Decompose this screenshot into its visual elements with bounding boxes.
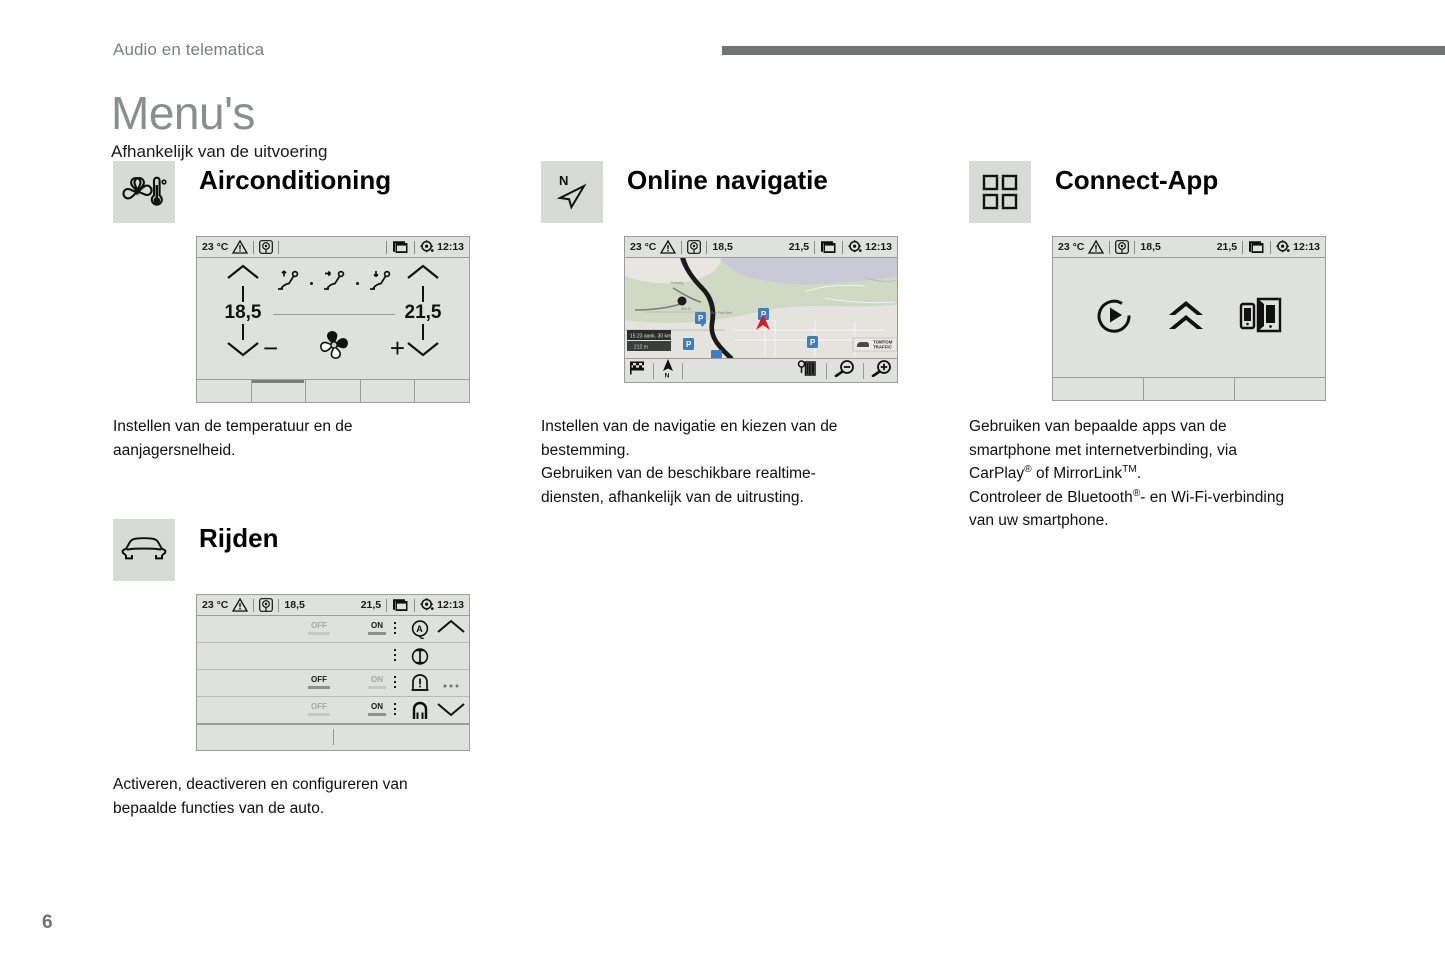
connect-app-grid [1053,258,1325,377]
status-divider-3 [386,241,387,254]
vent-face-icon[interactable] [321,270,347,297]
airconditioning-screen[interactable]: 23 °C 12:13 18,5 [196,236,470,403]
fan-increase-button[interactable]: + [390,339,405,357]
fan-decrease-button[interactable]: − [263,339,278,357]
row-menu-icon[interactable] [394,622,397,637]
temp-right-value: 21,5 [395,303,451,323]
toolbar-divider-4 [863,363,864,379]
header-rule [722,46,1445,55]
tab-4[interactable] [361,380,415,402]
description-line: Activeren, deactiveren en configureren v… [113,773,513,797]
fan-speed-control[interactable]: − + [263,330,405,365]
chevron-up-icon [436,618,466,634]
row-menu-icon[interactable] [394,676,397,691]
svg-text:N: N [665,373,670,379]
svg-text:Snelweg: Snelweg [671,281,683,285]
status-temp-right: 21,5 [789,241,809,253]
tab-3[interactable] [1235,378,1325,400]
status-bar: 23 °C 12:13 [197,237,469,258]
registered-mark-2: ® [1133,487,1141,498]
play-circle-icon[interactable] [1095,296,1133,339]
separator-dot-2 [356,282,359,285]
zoom-in-icon[interactable] [871,359,893,382]
status-divider-2 [1134,241,1135,254]
running-head: Audio en telematica [113,40,264,60]
description-line: van uw smartphone. [969,509,1369,533]
section-airconditioning: Airconditioning 23 °C 12:13 [113,161,513,223]
map-layers-icon[interactable] [797,359,819,382]
lane-departure-icon [409,646,433,667]
warning-triangle-icon [660,240,676,254]
toggle-on-label[interactable]: ON [371,621,383,634]
north-compass-icon[interactable]: N [661,358,675,383]
status-divider [253,599,254,612]
screen-tab-bar[interactable] [1053,377,1325,400]
registered-mark: ® [1024,464,1032,475]
status-outside-temp: 23 °C [202,599,228,611]
svg-text:P: P [810,338,816,347]
status-divider-3 [1242,241,1243,254]
status-divider-2 [278,241,279,254]
toolbar-divider-2 [682,363,683,379]
active-tab-indicator [252,380,304,383]
description-line: smartphone met internetverbinding, via [969,439,1369,463]
mirrorlink-icon[interactable] [1239,296,1283,339]
toggle-on-label[interactable]: ON [371,702,383,715]
four-squares-grid-icon [969,161,1031,223]
divider-rule [273,314,395,315]
warning-triangle-icon [232,240,248,254]
svg-text:Rue Pont Neuf: Rue Pont Neuf [711,311,732,315]
toggle-off-label[interactable]: OFF [311,621,327,634]
status-clock: 12:13 [865,241,892,253]
section-connect-app: Connect-App 23 °C 18,5 21,5 12:13 [969,161,1369,223]
warning-triangle-icon [1088,240,1104,254]
section-header: Connect-App [969,161,1369,223]
status-temp-left: 18,5 [1140,241,1160,253]
description-line: bepaalde functies van de auto. [113,797,513,821]
chevron-down-icon [226,341,260,357]
fan-thermometer-icon [113,161,175,223]
status-divider-2 [706,241,707,254]
drive-row[interactable]: OFF ON A [197,616,469,643]
section-rijden: Rijden 23 °C 18,5 21,5 12:13 [113,519,513,581]
windows-icon [392,240,409,254]
tab-2[interactable] [1144,378,1234,400]
car-front-icon [113,519,175,581]
status-clock: 12:13 [437,241,464,253]
page-number: 6 [42,912,53,934]
temp-left-value: 18,5 [215,303,271,323]
section-online-navigatie: N Online navigatie 23 °C 18,5 21,5 [541,161,941,223]
headrest-icon [409,700,433,721]
status-divider-2 [278,599,279,612]
status-bar: 23 °C 18,5 21,5 12:13 [197,595,469,616]
description-line: Gebruiken van bepaalde apps van de [969,415,1369,439]
ellipsis-icon [440,683,462,689]
connect-app-screen[interactable]: 23 °C 18,5 21,5 12:13 [1052,236,1326,401]
svg-text:N: N [559,173,568,188]
toggle-off-on[interactable]: OFF ON [311,621,383,634]
tab-1[interactable] [1053,378,1143,400]
fan-icon [318,330,350,365]
windows-icon [820,240,837,254]
status-outside-temp: 23 °C [202,241,228,253]
status-divider [681,241,682,254]
tick-lower [242,324,244,340]
section-description: Gebruiken van bepaalde apps van de smart… [969,415,1369,533]
windows-icon [1248,240,1265,254]
section-description: Instellen van de temperatuur en de aanja… [113,415,513,462]
svg-text:15:23 aank. 30 km: 15:23 aank. 30 km [630,334,671,340]
tick-upper [242,286,244,302]
status-outside-temp: 23 °C [1058,241,1084,253]
toggle-off-label[interactable]: OFF [311,702,327,715]
description-line: Gebruiken van de beschikbare realtime- [541,462,941,486]
section-title: Online navigatie [627,165,828,196]
tab-1[interactable] [197,380,251,402]
description-line: Instellen van de navigatie en kiezen van… [541,415,941,439]
list-scroll-up-button[interactable] [435,618,467,639]
status-divider-4 [1270,241,1271,254]
list-more-indicator [435,676,467,694]
svg-text:A: A [416,624,423,634]
status-divider-4 [842,241,843,254]
checkered-flag-icon[interactable] [629,360,646,381]
tab-5[interactable] [415,380,469,402]
status-bar: 23 °C 18,5 21,5 12:13 [625,237,897,258]
target-icon [1115,240,1129,254]
gear-icon [1276,240,1290,254]
navigation-screen[interactable]: 23 °C 18,5 21,5 12:13 [624,236,898,383]
target-icon [259,598,273,612]
status-divider [1109,241,1110,254]
target-icon [687,240,701,254]
status-temp-right: 21,5 [361,599,381,611]
status-clock: 12:13 [1293,241,1320,253]
section-title: Airconditioning [199,165,391,196]
drive-row[interactable] [197,643,469,670]
toolbar-divider [653,363,654,379]
status-temp-right: 21,5 [1217,241,1237,253]
tab-divider [333,729,334,745]
airco-controls: 18,5 21,5 [197,258,469,379]
tab-3[interactable] [306,380,360,402]
status-temp-left: 18,5 [712,241,732,253]
description-line: bestemming. [541,439,941,463]
page-subtitle: Afhankelijk van de uitvoering [111,143,327,162]
svg-text:212 m: 212 m [634,345,648,351]
svg-text:P: P [698,314,704,323]
toggle-off-label[interactable]: OFF [311,675,327,688]
section-title: Connect-App [1055,165,1218,196]
gear-icon [420,598,434,612]
section-header: Airconditioning [113,161,513,223]
status-clock: 12:13 [437,599,464,611]
map-view[interactable]: Snelweg Afrit 12 Rue Pont Neuf P P [625,258,897,358]
gear-icon [848,240,862,254]
row-menu-icon[interactable] [394,703,397,718]
separator-dot [310,282,313,285]
status-outside-temp: 23 °C [630,241,656,253]
tick-lower [422,324,424,340]
navigation-toolbar[interactable]: N [625,358,897,382]
toggle-off-on[interactable]: OFF ON [311,702,383,715]
drive-row[interactable]: OFF ON [197,670,469,697]
list-scroll-down-button[interactable] [435,701,467,722]
airflow-distribution-row[interactable] [275,270,393,297]
stop-start-icon: A [409,619,433,640]
chevron-up-icon [226,264,260,280]
gear-icon [420,240,434,254]
status-divider-3 [386,599,387,612]
page-title: Menu's [111,90,327,136]
toggle-off-on[interactable]: OFF ON [311,675,383,688]
toggle-on-label[interactable]: ON [371,675,383,688]
status-divider-4 [414,241,415,254]
warning-triangle-icon [232,598,248,612]
zoom-out-icon[interactable] [834,359,856,382]
section-title: Rijden [199,523,278,554]
drive-settings-list: OFF ON A OFF [197,616,469,724]
description-line: CarPlay® of MirrorLinkTM. [969,462,1369,486]
rijden-screen[interactable]: 23 °C 18,5 21,5 12:13 [196,594,470,751]
svg-text:P: P [686,340,692,349]
tick-upper [422,286,424,302]
description-line: diensten, afhankelijk van de uitrusting. [541,486,941,510]
description-line: Controleer de Bluetooth®- en Wi-Fi-verbi… [969,486,1369,510]
tab-2[interactable] [252,380,306,402]
section-header: Rijden [113,519,513,581]
section-header: N Online navigatie [541,161,941,223]
svg-text:TRAFFIC: TRAFFIC [873,345,893,350]
compass-north-arrow-icon: N [541,161,603,223]
chevron-down-icon [406,341,440,357]
windows-icon [392,598,409,612]
status-divider-3 [814,241,815,254]
title-block: Menu's Afhankelijk van de uitvoering [111,90,327,162]
target-icon [259,240,273,254]
screen-tab-bar[interactable] [197,379,469,402]
screen-tab-bar[interactable] [197,724,469,750]
section-description: Activeren, deactiveren en configureren v… [113,773,513,820]
vent-up-icon[interactable] [275,270,301,297]
drive-row[interactable]: OFF ON [197,697,469,724]
status-divider-4 [414,599,415,612]
page-header: Audio en telematica [113,40,1445,66]
trademark-mark: TM [1122,464,1137,475]
description-line: Instellen van de temperatuur en de [113,415,513,439]
svg-text:Afrit 12: Afrit 12 [681,307,691,311]
vent-down-icon[interactable] [367,270,393,297]
row-menu-icon[interactable] [394,649,397,664]
status-divider [253,241,254,254]
status-temp-left: 18,5 [284,599,304,611]
chevron-down-icon [436,701,466,717]
chevrons-up-icon[interactable] [1166,298,1206,337]
description-line: aanjagersnelheid. [113,439,513,463]
chevron-up-icon [406,264,440,280]
tyre-pressure-icon [409,673,433,694]
map-graphic: Snelweg Afrit 12 Rue Pont Neuf P P [625,258,897,358]
status-bar: 23 °C 18,5 21,5 12:13 [1053,237,1325,258]
section-description: Instellen van de navigatie en kiezen van… [541,415,941,509]
toolbar-divider-3 [826,363,827,379]
